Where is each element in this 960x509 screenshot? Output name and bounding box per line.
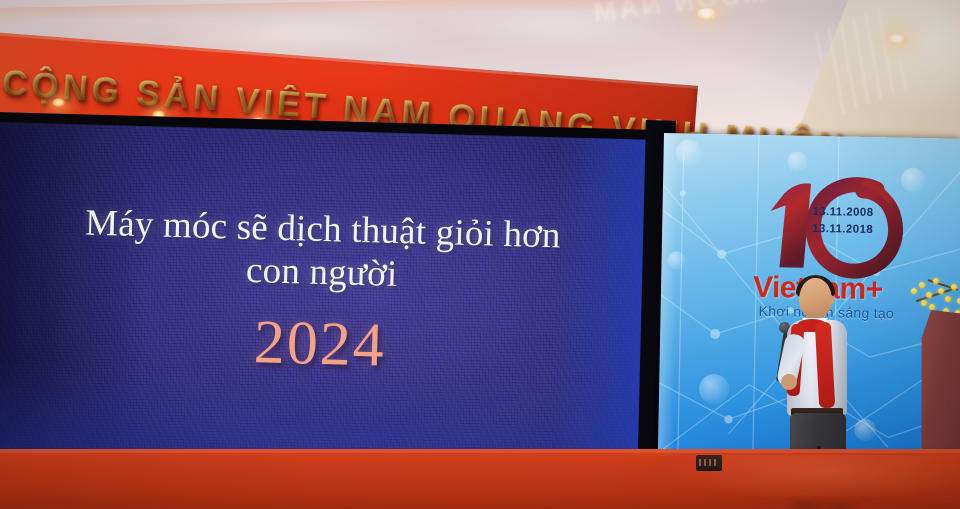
slide-year: 2024 [253,307,387,382]
downlight-icon [889,34,907,45]
downlight-icon [697,8,717,20]
presenter-hand [781,374,797,390]
presentation-slide: Máy móc sẽ dịch thuật giỏi hơn con người… [0,122,651,498]
shoe-reflection [818,502,860,509]
wall-spot-light-icon [52,98,65,107]
slide-line-2: con người [246,250,398,297]
date-from: 13.11.2008 [812,204,873,222]
led-screen-frame: Máy móc sẽ dịch thuật giỏi hơn con người… [0,112,666,505]
date-to: 13.11.2018 [812,221,873,239]
floor-power-box-sockets [699,459,719,466]
led-screen[interactable]: Máy móc sẽ dịch thuật giỏi hơn con người… [0,122,651,498]
slide-line-1: Máy móc sẽ dịch thuật giỏi hơn [85,203,562,259]
stage-scene: MUÔN NĂM CỘNG SẢN VIỆT NAM QUANG VINH MU… [0,0,960,509]
floor-top-edge [0,449,960,453]
presenter-ear [827,295,834,305]
anniversary-dates: 13.11.2008 13.11.2018 [812,204,874,240]
